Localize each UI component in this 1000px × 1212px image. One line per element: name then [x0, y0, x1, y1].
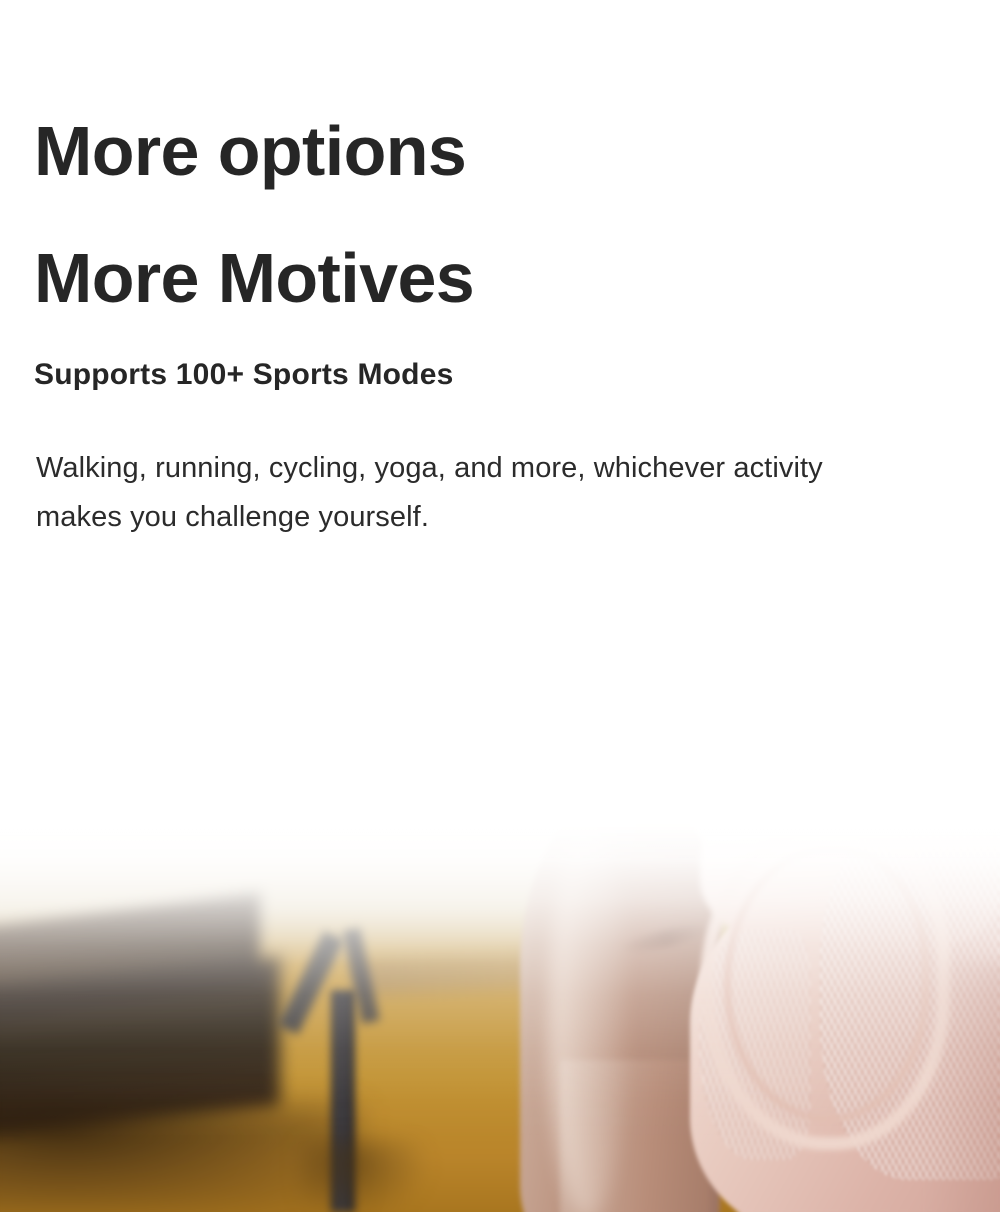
hero-photo — [0, 760, 1000, 1212]
sports-top-shading — [930, 960, 1000, 1212]
page-title-line-2: More Motives — [34, 243, 474, 313]
body-paragraph: Walking, running, cycling, yoga, and mor… — [36, 444, 896, 542]
product-feature-page: More options More Motives Supports 100+ … — [0, 0, 1000, 1212]
equipment-floor-glow — [300, 1140, 430, 1212]
subheading: Supports 100+ Sports Modes — [34, 357, 453, 393]
sports-top-seam-inner — [724, 846, 929, 1122]
photo-canvas — [0, 760, 1000, 1212]
page-title-line-1: More options — [34, 116, 466, 186]
person-leg-highlight — [548, 820, 628, 1212]
